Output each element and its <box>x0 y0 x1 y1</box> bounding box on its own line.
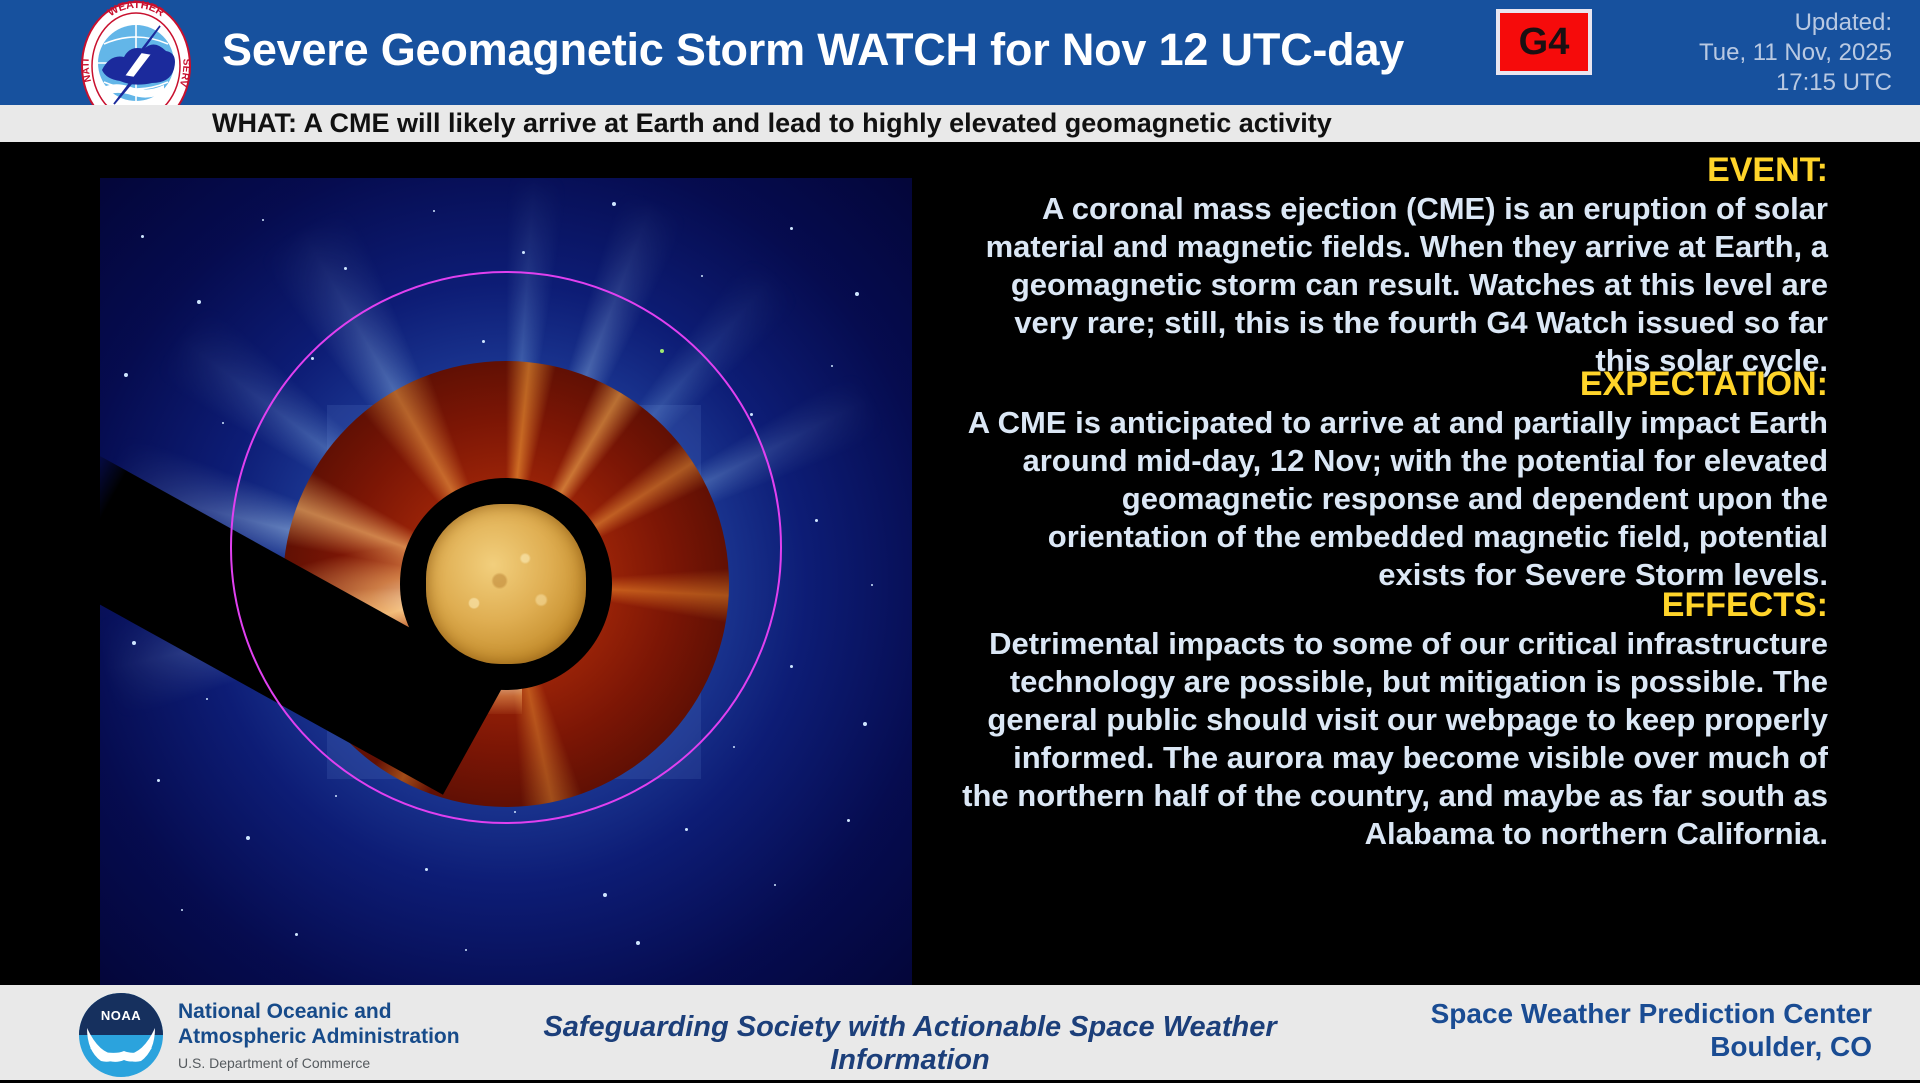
magenta-reference-circle <box>230 271 782 823</box>
noaa-logo: NOAA <box>78 992 164 1078</box>
swpc-center-name: Space Weather Prediction Center <box>1352 997 1872 1030</box>
noaa-agency-line2: Atmospheric Administration <box>178 1024 478 1049</box>
section-effects-heading: EFFECTS: <box>960 585 1828 625</box>
noaa-department: U.S. Department of Commerce <box>178 1053 478 1073</box>
updated-date: Tue, 11 Nov, 2025 <box>1472 38 1892 68</box>
swpc-alert-page: WEATHER NATIONAL SERVICE Severe Ge <box>0 0 1920 1080</box>
footer-tagline: Safeguarding Society with Actionable Spa… <box>470 1011 1350 1077</box>
text-column: EVENT: A coronal mass ejection (CME) is … <box>960 142 1828 985</box>
what-summary-text: WHAT: A CME will likely arrive at Earth … <box>212 105 1332 142</box>
swpc-center-block: Space Weather Prediction Center Boulder,… <box>1352 997 1872 1063</box>
section-expectation: EXPECTATION: A CME is anticipated to arr… <box>960 364 1828 594</box>
noaa-agency-line1: National Oceanic and <box>178 999 478 1024</box>
section-effects: EFFECTS: Detrimental impacts to some of … <box>960 585 1828 853</box>
section-effects-body: Detrimental impacts to some of our criti… <box>960 625 1828 853</box>
main-content: EVENT: A coronal mass ejection (CME) is … <box>0 142 1920 985</box>
updated-label: Updated: <box>1472 8 1892 38</box>
updated-time: 17:15 UTC <box>1472 68 1892 98</box>
footer-bar: NOAA National Oceanic and Atmospheric Ad… <box>0 985 1920 1080</box>
noaa-logo-svg: NOAA <box>78 992 164 1078</box>
section-event-body: A coronal mass ejection (CME) is an erup… <box>960 190 1828 380</box>
section-expectation-body: A CME is anticipated to arrive at and pa… <box>960 404 1828 594</box>
page-title: Severe Geomagnetic Storm WATCH for Nov 1… <box>222 18 1472 82</box>
swpc-center-location: Boulder, CO <box>1352 1030 1872 1063</box>
noaa-agency-text: National Oceanic and Atmospheric Adminis… <box>178 999 478 1073</box>
what-summary-bar: WHAT: A CME will likely arrive at Earth … <box>0 105 1920 142</box>
section-event-heading: EVENT: <box>960 150 1828 190</box>
section-event: EVENT: A coronal mass ejection (CME) is … <box>960 150 1828 380</box>
coronagraph-cme-image <box>100 178 912 990</box>
header-bar: WEATHER NATIONAL SERVICE Severe Ge <box>0 0 1920 105</box>
section-expectation-heading: EXPECTATION: <box>960 364 1828 404</box>
noaa-logo-text: NOAA <box>101 1008 141 1023</box>
updated-timestamp: Updated: Tue, 11 Nov, 2025 17:15 UTC <box>1472 8 1892 98</box>
